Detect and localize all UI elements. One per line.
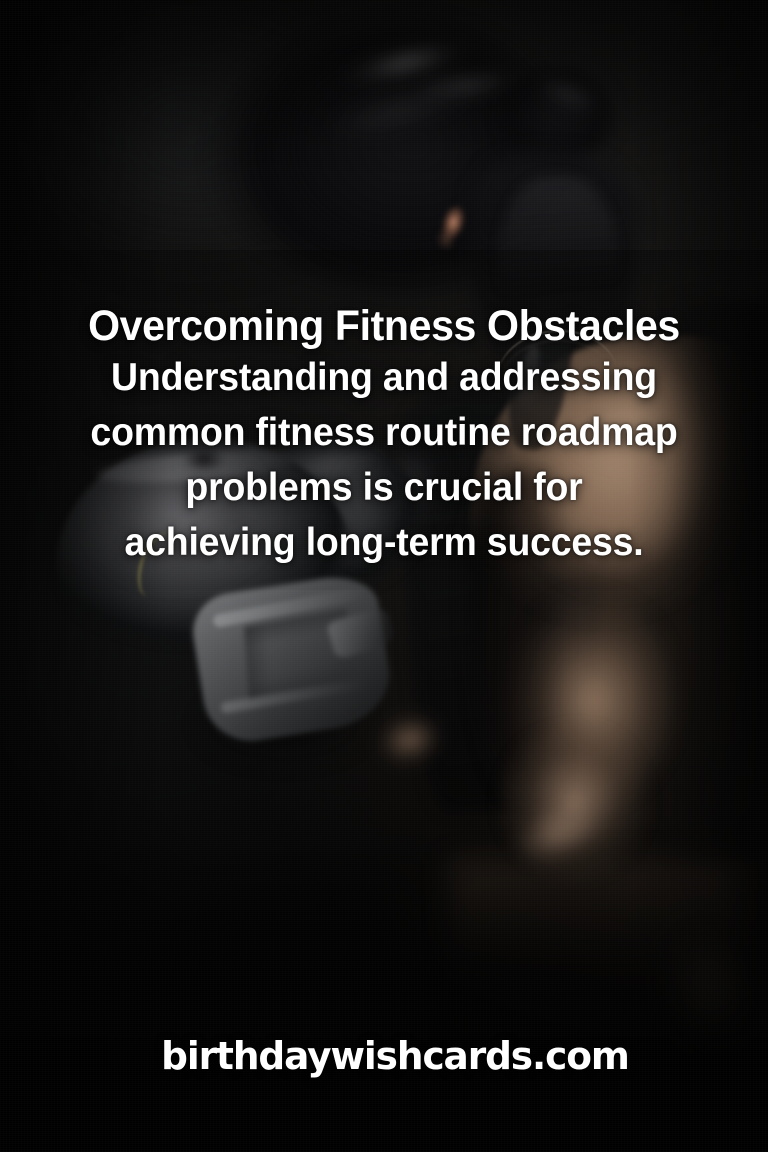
subtitle-block: Understanding and addressing common fitn… [54, 350, 714, 570]
pin-graphic-card: Overcoming Fitness Obstacles Understandi… [0, 0, 768, 1152]
site-watermark: birthdaywishcards.com [17, 1032, 768, 1080]
subtitle-line-4: achieving long-term success. [54, 515, 714, 570]
text-overlay: Overcoming Fitness Obstacles Understandi… [0, 0, 768, 1152]
page-title: Overcoming Fitness Obstacles [17, 301, 750, 351]
subtitle-line-1: Understanding and addressing [54, 350, 714, 405]
subtitle-line-3: problems is crucial for [54, 460, 714, 515]
subtitle-line-2: common fitness routine roadmap [54, 405, 714, 460]
